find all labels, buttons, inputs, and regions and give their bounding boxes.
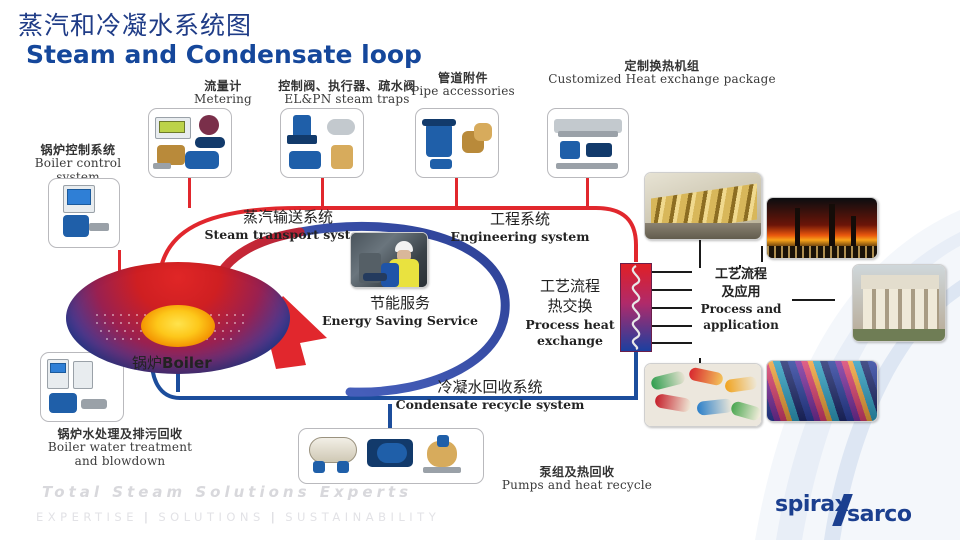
label-steam-transport-cn: 蒸汽输送系统 (178, 208, 398, 227)
card-metering[interactable] (148, 108, 232, 178)
label-water-treatment-en2: and blowdown (20, 455, 220, 468)
label-boiler-control-cn: 锅炉控制系统 (26, 144, 130, 157)
footer-pillars: EXPERTISE|SOLUTIONS|SUSTAINABILITY (36, 510, 440, 524)
boiler-flame (141, 305, 215, 347)
page-title-en: Steam and Condensate loop (26, 40, 422, 69)
label-water-treatment-cn: 锅炉水处理及排污回收 (20, 428, 220, 441)
label-water-treatment: 锅炉水处理及排污回收 Boiler water treatment and bl… (20, 428, 220, 468)
card-pumps[interactable] (298, 428, 484, 484)
label-water-treatment-en1: Boiler water treatment (20, 441, 220, 454)
card-boiler-controller[interactable] (48, 178, 120, 248)
label-boiler: 锅炉Boiler (132, 352, 212, 373)
label-boiler-control-en1: Boiler control (26, 157, 130, 170)
pharmaceutical-capsules-photo (644, 363, 762, 427)
label-pipe-accessories-en: Pipe accessories (398, 85, 528, 98)
connector-steam-traps (321, 175, 324, 208)
label-process-application-cn2: 及应用 (690, 284, 792, 302)
slide-canvas: 蒸汽和冷凝水系统图 Steam and Condensate loop 流量计 … (0, 0, 960, 540)
connector-pumps (388, 404, 392, 428)
connector-pipe-accessories (455, 175, 458, 208)
label-heat-exchange-package: 定制换热机组 Customized Heat exchange package (542, 60, 782, 87)
label-process-application-en1: Process and (690, 301, 792, 317)
label-energy-saving: 节能服务 Energy Saving Service (310, 294, 490, 328)
institution-building-photo (852, 264, 946, 342)
footer-pillar-sustainability: SUSTAINABILITY (285, 510, 440, 524)
logo-text-sarco: sarco (847, 502, 911, 527)
label-pumps: 泵组及热回收 Pumps and heat recycle (482, 466, 672, 493)
card-steam-traps[interactable] (280, 108, 364, 178)
label-process-heat-cn2: 热交换 (522, 296, 618, 316)
textile-yarn-photo (766, 360, 878, 422)
connector-metering (188, 178, 191, 208)
engineer-service-photo (350, 232, 428, 288)
spirax-sarco-logo: spirax sarco (775, 492, 950, 526)
label-process-heat-cn1: 工艺流程 (522, 276, 618, 296)
label-energy-saving-cn: 节能服务 (310, 294, 490, 313)
footer-pillar-solutions: SOLUTIONS (158, 510, 264, 524)
page-title-cn: 蒸汽和冷凝水系统图 (18, 6, 252, 42)
label-pumps-en: Pumps and heat recycle (482, 479, 672, 492)
label-process-heat-en2: exchange (522, 333, 618, 350)
label-heat-exchange-package-en: Customized Heat exchange package (542, 73, 782, 86)
label-pumps-cn: 泵组及热回收 (482, 466, 672, 479)
label-condensate-recycle: 冷凝水回收系统 Condensate recycle system (395, 378, 585, 412)
heat-exchanger (620, 263, 652, 352)
footer-pillar-expertise: EXPERTISE (36, 510, 138, 524)
label-heat-exchange-package-cn: 定制换热机组 (542, 60, 782, 73)
label-engineering-system-en: Engineering system (440, 229, 600, 245)
footer-pillar-sep-2: | (265, 510, 285, 524)
label-condensate-recycle-en: Condensate recycle system (395, 397, 585, 413)
refinery-sunset-photo (766, 197, 878, 259)
footer-pillar-sep-1: | (138, 510, 158, 524)
label-condensate-recycle-cn: 冷凝水回收系统 (395, 378, 585, 397)
connector-heat-package (586, 175, 589, 208)
label-engineering-system: 工程系统 Engineering system (440, 210, 600, 244)
label-process-heat-en1: Process heat (522, 317, 618, 334)
label-boiler-en: Boiler (162, 354, 212, 372)
footer-tagline: Total Steam Solutions Experts (42, 483, 412, 501)
label-process-application-cn1: 工艺流程 (690, 266, 792, 284)
card-heat-exchange-package[interactable] (547, 108, 629, 178)
label-energy-saving-en: Energy Saving Service (310, 313, 490, 329)
label-boiler-cn: 锅炉 (132, 354, 162, 372)
card-pipe-accessories[interactable] (415, 108, 499, 178)
label-pipe-accessories-cn: 管道附件 (398, 72, 528, 85)
label-pipe-accessories: 管道附件 Pipe accessories (398, 72, 528, 99)
bottling-line-photo (644, 172, 762, 240)
label-process-application-en2: application (690, 317, 792, 333)
label-process-heat-exchange: 工艺流程 热交换 Process heat exchange (522, 276, 618, 350)
label-engineering-system-cn: 工程系统 (440, 210, 600, 229)
label-process-application: 工艺流程 及应用 Process and application (690, 266, 792, 333)
